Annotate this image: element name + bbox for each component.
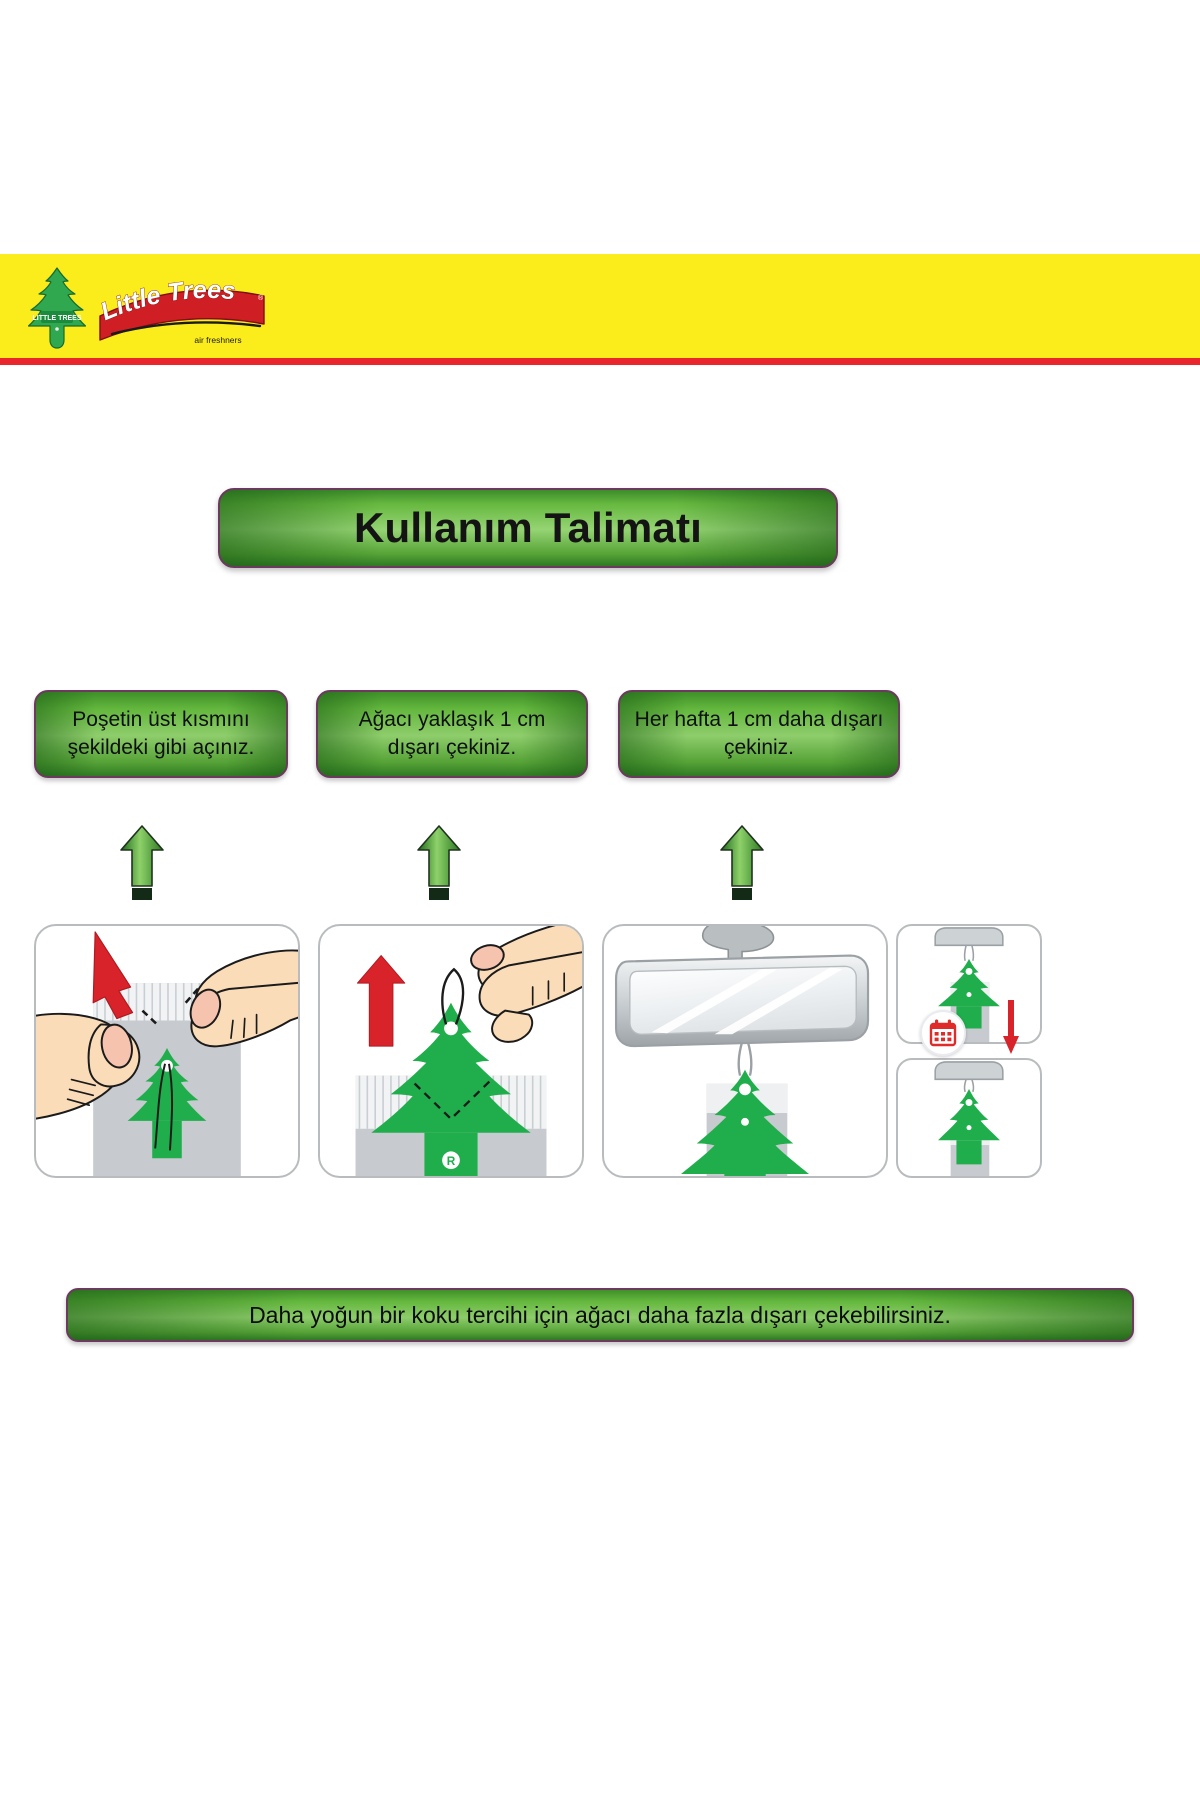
logo-tagline-text: air freshners	[194, 335, 241, 345]
illustration-panel-4-top	[896, 924, 1042, 1044]
brand-bar-red-rule	[0, 358, 1200, 365]
instruction-sheet: LITTLE TREES Little Trees ® air freshner…	[0, 0, 1200, 1800]
calendar-icon	[928, 1018, 958, 1048]
illustration-panel-2: R	[318, 924, 584, 1178]
logo-wordmark: Little Trees ® air freshners	[96, 270, 266, 346]
step-box-2: Ağacı yaklaşık 1 cm dışarı çekiniz.	[316, 690, 588, 778]
step-label-2: Ağacı yaklaşık 1 cm dışarı çekiniz.	[332, 706, 572, 761]
footer-banner: Daha yoğun bir koku tercihi için ağacı d…	[66, 1288, 1134, 1342]
registered-mark: R	[447, 1154, 456, 1168]
footer-text: Daha yoğun bir koku tercihi için ağacı d…	[249, 1302, 951, 1329]
little-trees-logo: LITTLE TREES Little Trees ® air freshner…	[28, 266, 266, 350]
logo-tree-label: LITTLE TREES	[33, 315, 82, 322]
tree-further-out-illustration	[898, 1060, 1040, 1176]
up-arrow-icon-1	[119, 824, 165, 902]
page-title-banner: Kullanım Talimatı	[218, 488, 838, 568]
step-label-3: Her hafta 1 cm daha dışarı çekiniz.	[634, 706, 884, 761]
step-box-3: Her hafta 1 cm daha dışarı çekiniz.	[618, 690, 900, 778]
step-box-1: Poşetin üst kısmını şekildeki gibi açını…	[34, 690, 288, 778]
illustration-panel-1	[34, 924, 300, 1178]
hand-pulling-tree-up-illustration: R	[320, 926, 582, 1176]
arrow-down-icon	[1002, 1000, 1020, 1056]
illustration-panel-3	[602, 924, 888, 1178]
step-label-1: Poşetin üst kısmını şekildeki gibi açını…	[50, 706, 272, 761]
hands-tearing-package-illustration	[36, 926, 298, 1176]
rear-view-mirror-illustration	[604, 926, 886, 1176]
page-title: Kullanım Talimatı	[354, 504, 702, 552]
svg-text:®: ®	[258, 294, 264, 302]
up-arrow-icon-2	[416, 824, 462, 902]
illustration-panel-4-bottom	[896, 1058, 1042, 1178]
up-arrow-icon-3	[719, 824, 765, 902]
weekly-badge	[920, 1010, 966, 1056]
logo-tree-icon: LITTLE TREES	[28, 266, 86, 350]
